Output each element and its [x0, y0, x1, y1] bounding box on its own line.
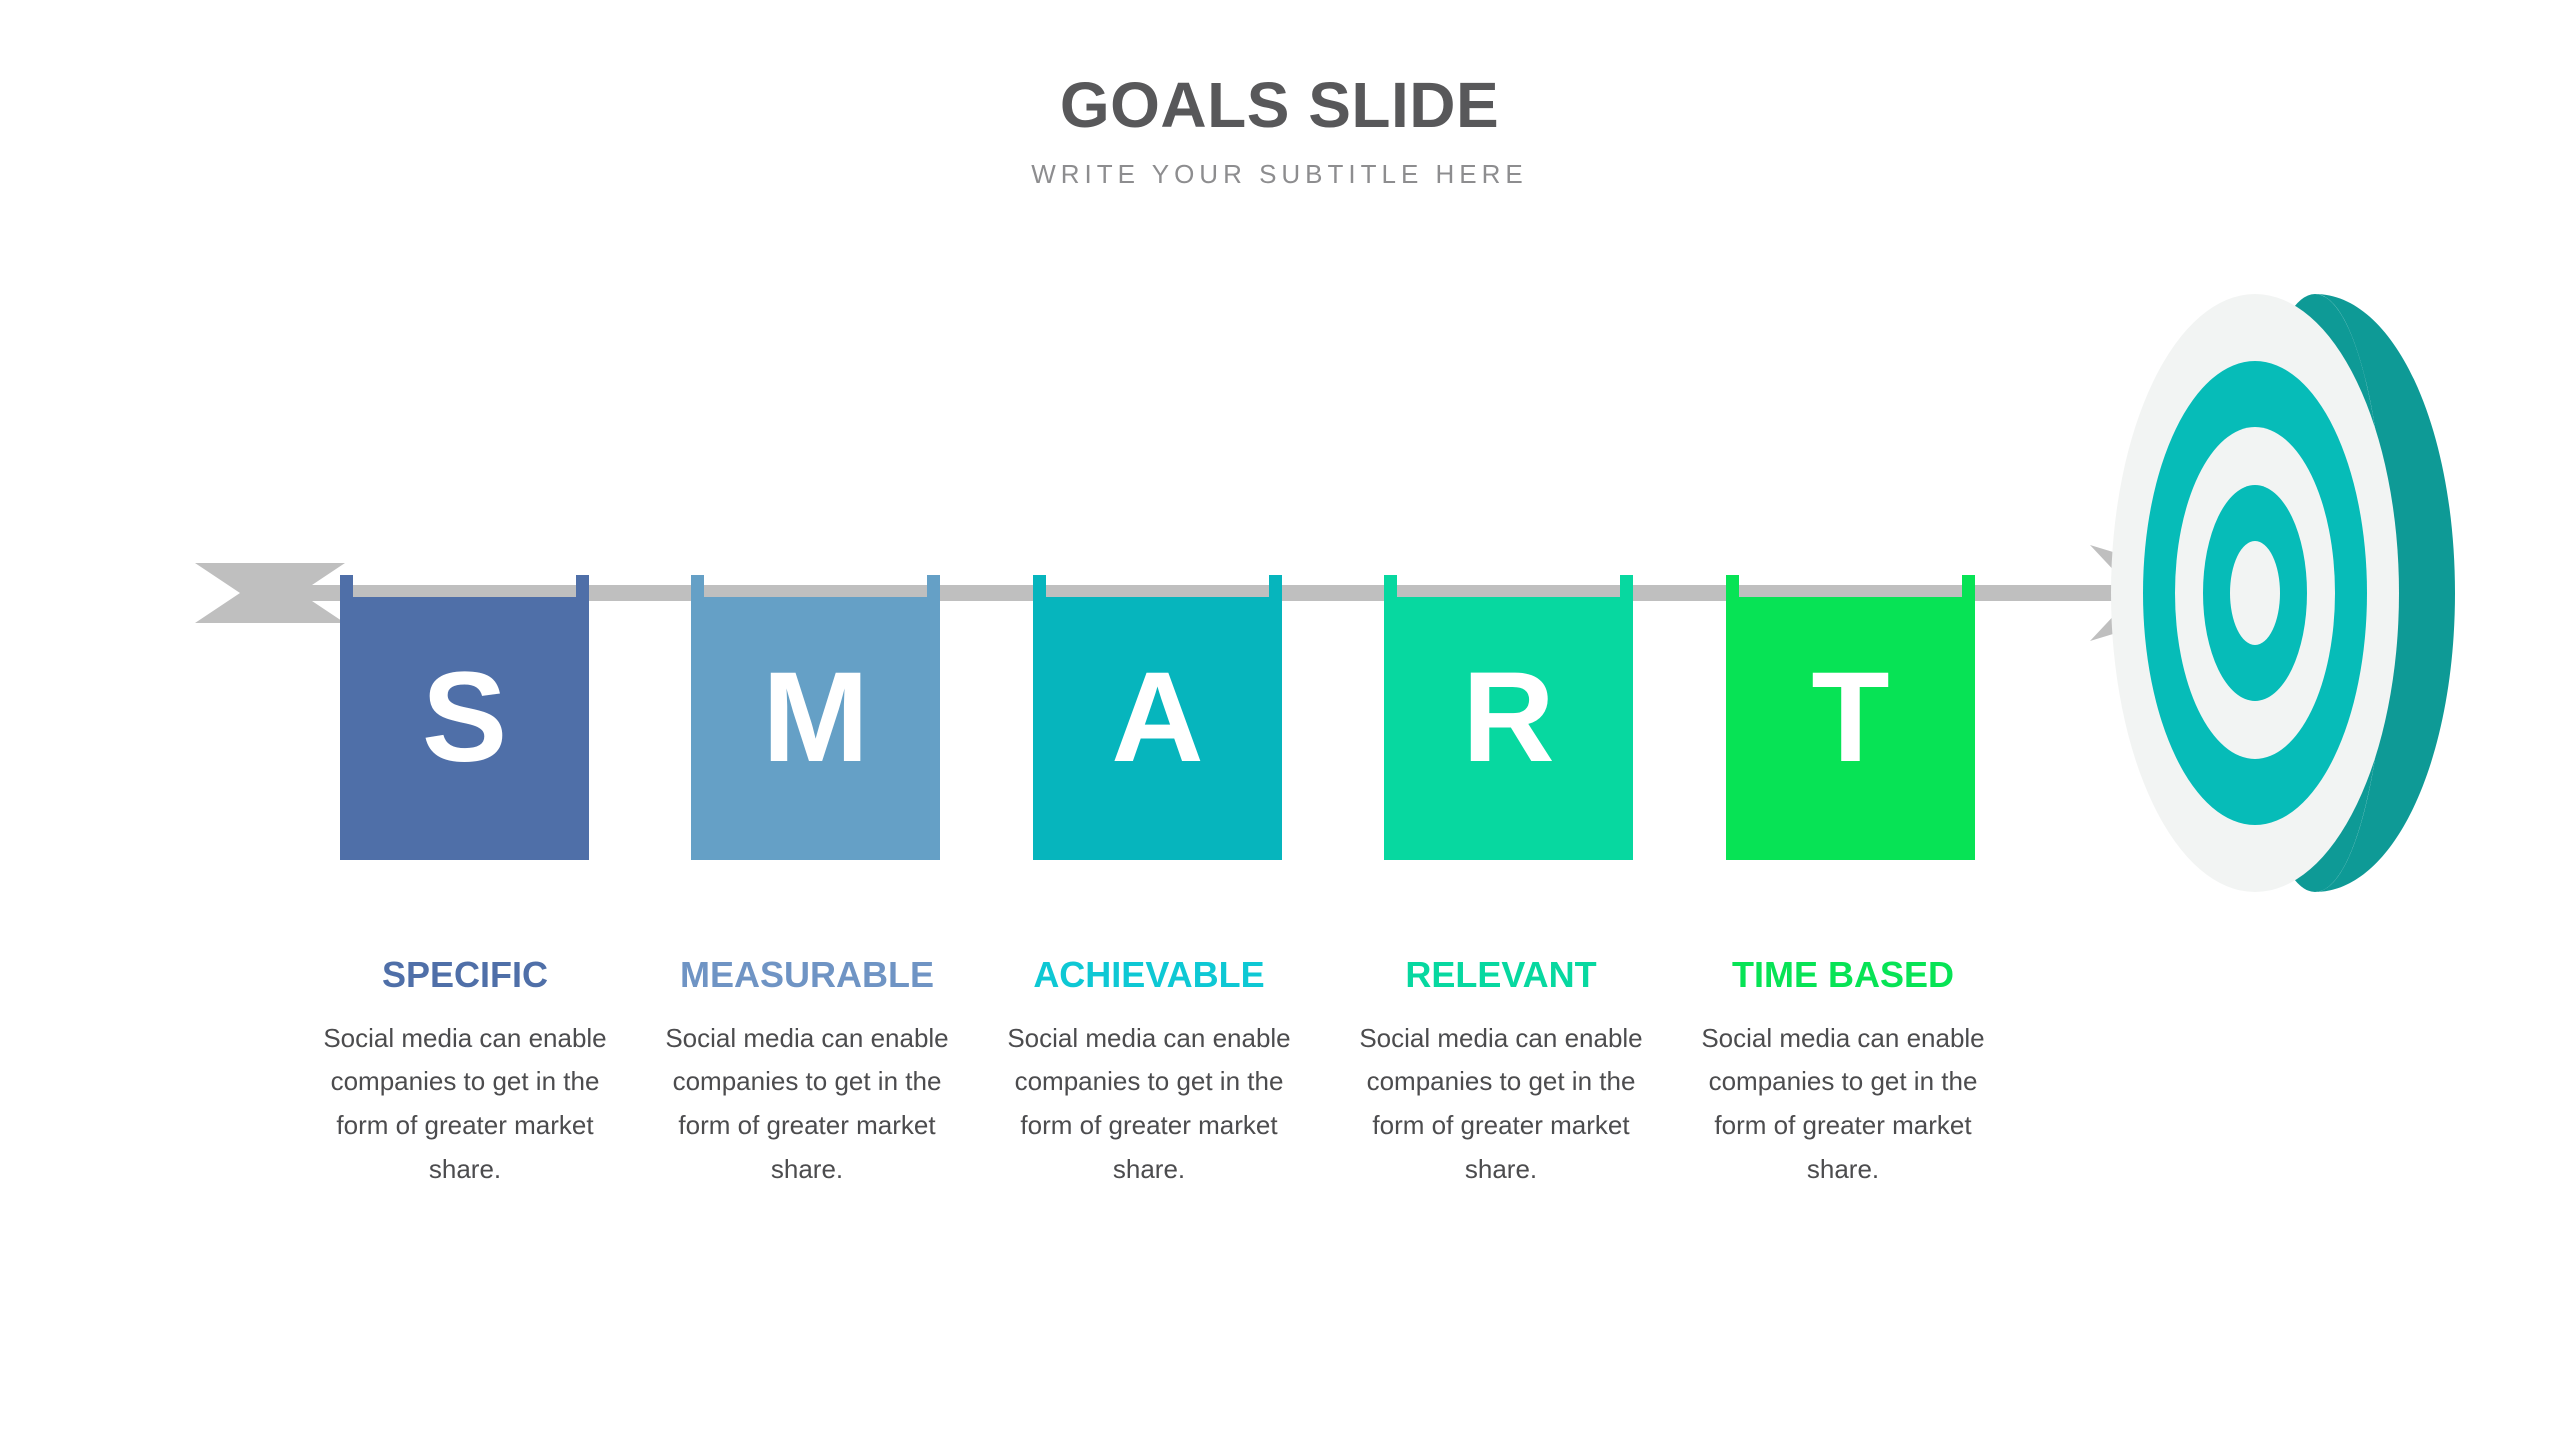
caption-title: ACHIEVABLE — [1004, 955, 1294, 995]
flag-t[interactable]: T — [1726, 575, 1975, 860]
flag-body: S — [340, 597, 589, 860]
caption-body: Social media can enable companies to get… — [1698, 1017, 1988, 1192]
caption-measurable: MEASURABLE Social media can enable compa… — [662, 955, 952, 1191]
smart-goals-diagram: S M A R T — [0, 0, 2559, 1440]
flag-body: T — [1726, 597, 1975, 860]
caption-title: SPECIFIC — [320, 955, 610, 995]
flag-m[interactable]: M — [691, 575, 940, 860]
flag-body: R — [1384, 597, 1633, 860]
flag-r[interactable]: R — [1384, 575, 1633, 860]
caption-body: Social media can enable companies to get… — [320, 1017, 610, 1192]
flag-letter: T — [1726, 597, 1975, 860]
caption-body: Social media can enable companies to get… — [662, 1017, 952, 1192]
flag-a[interactable]: A — [1033, 575, 1282, 860]
flag-s[interactable]: S — [340, 575, 589, 860]
flag-body: A — [1033, 597, 1282, 860]
caption-time-based: TIME BASED Social media can enable compa… — [1698, 955, 1988, 1191]
caption-specific: SPECIFIC Social media can enable compani… — [320, 955, 610, 1191]
flag-letter: R — [1384, 597, 1633, 860]
caption-body: Social media can enable companies to get… — [1004, 1017, 1294, 1192]
flag-body: M — [691, 597, 940, 860]
flag-letter: M — [691, 597, 940, 860]
caption-title: MEASURABLE — [662, 955, 952, 995]
caption-relevant: RELEVANT Social media can enable compani… — [1356, 955, 1646, 1191]
bullseye-target-icon — [2105, 288, 2455, 898]
caption-achievable: ACHIEVABLE Social media can enable compa… — [1004, 955, 1294, 1191]
flag-letter: S — [340, 597, 589, 860]
caption-title: RELEVANT — [1356, 955, 1646, 995]
flag-letter: A — [1033, 597, 1282, 860]
caption-body: Social media can enable companies to get… — [1356, 1017, 1646, 1192]
caption-title: TIME BASED — [1698, 955, 1988, 995]
